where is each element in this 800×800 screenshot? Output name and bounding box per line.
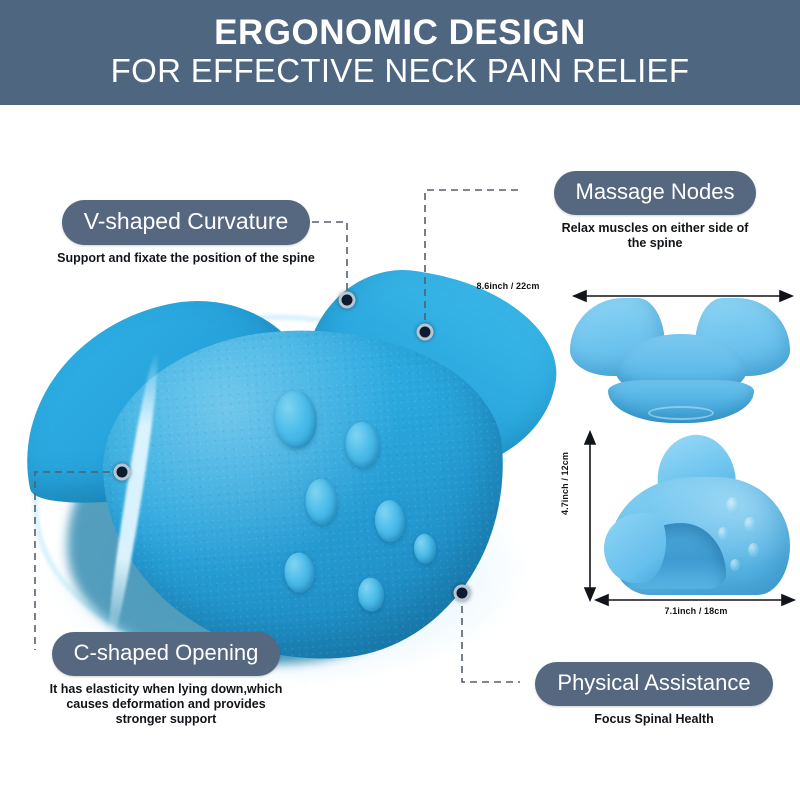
dimension-label-height: 4.7inch / 12cm <box>560 452 570 515</box>
marker-dot-physical-assistance[interactable] <box>454 585 471 602</box>
photo-front-lip <box>604 513 666 583</box>
infographic-canvas: ERGONOMIC DESIGN FOR EFFECTIVE NECK PAIN… <box>0 0 800 800</box>
marker-dot-c-shaped[interactable] <box>114 464 131 481</box>
dimension-label-width-top: 8.6inch / 22cm <box>0 281 800 291</box>
callout-massage-nodes[interactable]: Massage Nodes Relax muscles on either si… <box>520 171 790 251</box>
marker-dot-v-shaped[interactable] <box>339 292 356 309</box>
photo-node-bump <box>730 559 740 571</box>
main-product-image <box>5 255 550 675</box>
callout-v-shaped-curvature[interactable]: V-shaped Curvature Support and fixate th… <box>36 200 336 266</box>
dim-arrowhead-right <box>782 595 794 605</box>
product-photo-front-view <box>570 298 790 423</box>
photo-node-bump <box>718 527 728 540</box>
callout-title-massage-nodes[interactable]: Massage Nodes <box>554 171 757 215</box>
dim-arrowhead-left <box>596 595 608 605</box>
callout-subtitle-physical-assistance: Focus Spinal Health <box>514 712 794 727</box>
callout-c-shaped-opening[interactable]: C-shaped Opening It has elasticity when … <box>16 632 316 726</box>
callout-title-c-shaped[interactable]: C-shaped Opening <box>52 632 281 676</box>
product-photo-side-view <box>598 435 793 595</box>
header-title-line1: ERGONOMIC DESIGN <box>214 15 586 52</box>
header-title-line2: FOR EFFECTIVE NECK PAIN RELIEF <box>111 53 690 90</box>
callout-subtitle-v-shaped: Support and fixate the position of the s… <box>36 251 336 266</box>
dimension-label-width-bottom: 7.1inch / 18cm <box>598 606 794 616</box>
dim-arrowhead-up <box>585 432 595 444</box>
photo-node-bump <box>744 517 756 532</box>
header-banner: ERGONOMIC DESIGN FOR EFFECTIVE NECK PAIN… <box>0 0 800 105</box>
photo-node-bump <box>748 543 759 557</box>
photo-node-bump <box>726 497 740 515</box>
callout-physical-assistance[interactable]: Physical Assistance Focus Spinal Health <box>514 662 794 727</box>
callout-title-v-shaped[interactable]: V-shaped Curvature <box>62 200 311 245</box>
callout-title-physical-assistance[interactable]: Physical Assistance <box>535 662 772 706</box>
dim-arrowhead-down <box>585 588 595 600</box>
callout-subtitle-c-shaped: It has elasticity when lying down,which … <box>16 682 316 726</box>
callout-subtitle-massage-nodes: Relax muscles on either side of the spin… <box>520 221 790 251</box>
photo-base-ring <box>648 406 714 420</box>
marker-dot-massage-nodes[interactable] <box>417 324 434 341</box>
